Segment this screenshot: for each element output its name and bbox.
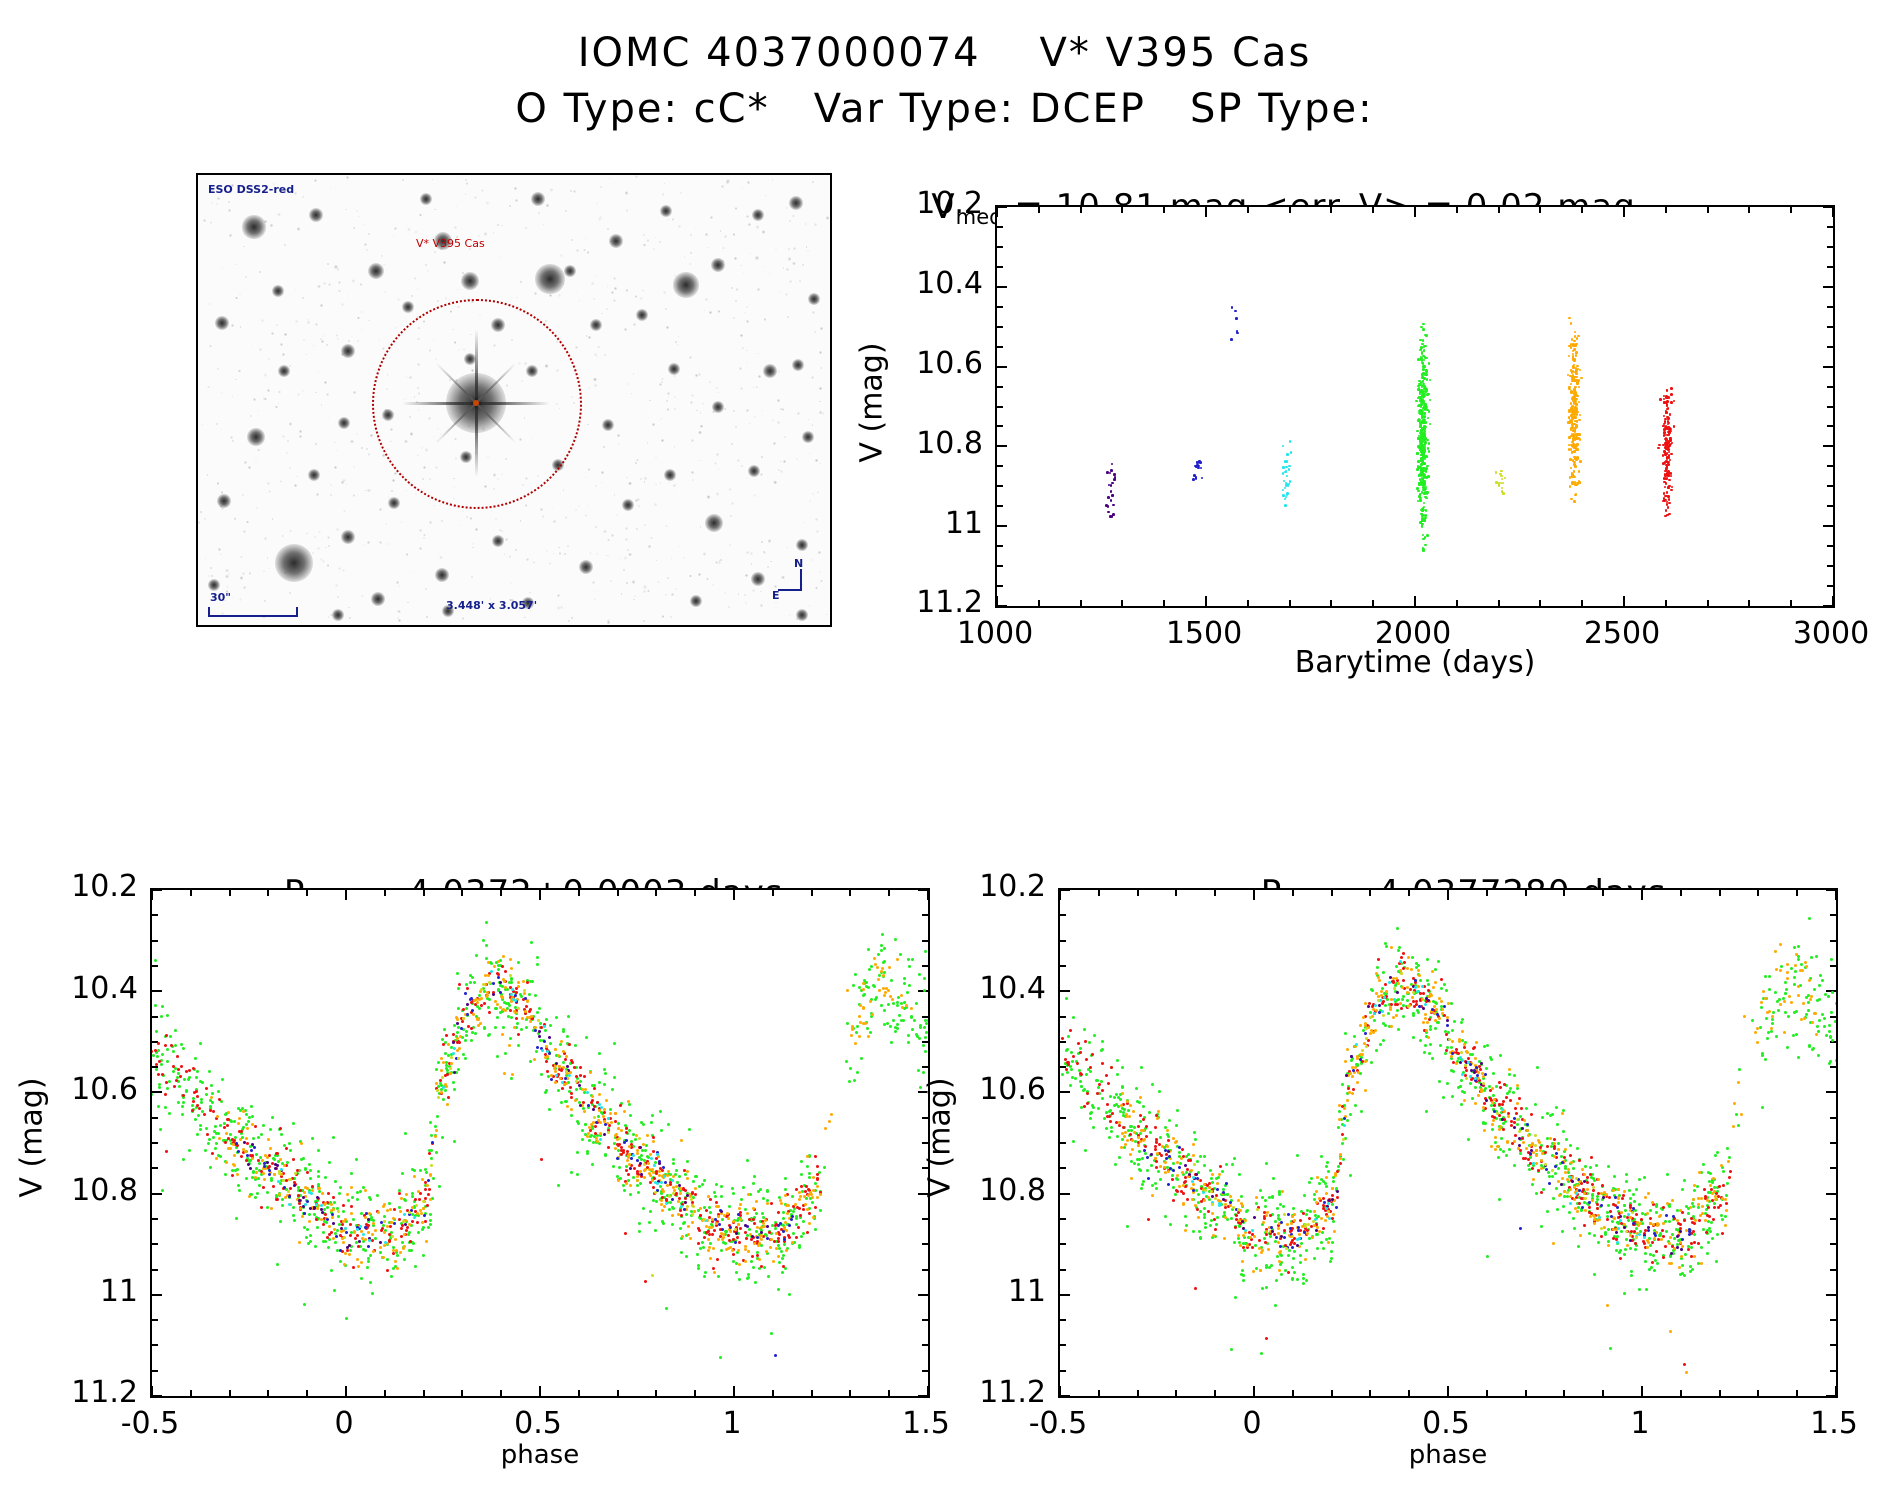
data-point: [911, 1028, 914, 1031]
sky-noise: [758, 353, 760, 355]
data-point: [1815, 955, 1818, 958]
data-point: [343, 1263, 346, 1266]
sky-noise: [643, 585, 646, 588]
data-point: [652, 1140, 655, 1143]
y-tick-minor: [997, 465, 1003, 467]
sky-noise: [499, 257, 501, 259]
sky-noise: [256, 507, 257, 508]
x-tick-minor: [1038, 207, 1040, 213]
sky-noise: [231, 324, 234, 327]
data-point: [550, 1078, 553, 1081]
sky-noise: [796, 458, 798, 460]
data-point: [800, 1235, 803, 1238]
data-point: [1199, 1210, 1202, 1213]
data-point: [1065, 1049, 1068, 1052]
data-point: [594, 1125, 597, 1128]
data-point: [293, 1184, 296, 1187]
data-point: [327, 1192, 330, 1195]
sky-noise: [306, 354, 307, 355]
sky-noise: [302, 196, 304, 198]
data-point: [386, 1225, 389, 1228]
data-point: [411, 1192, 414, 1195]
sky-noise: [603, 446, 604, 447]
x-tick-minor: [1369, 890, 1371, 896]
sky-noise: [210, 567, 212, 569]
data-point: [1580, 377, 1583, 380]
data-point: [1291, 1278, 1294, 1281]
data-point: [169, 1035, 172, 1038]
sky-noise: [337, 411, 338, 412]
sky-noise: [427, 270, 429, 272]
data-point: [548, 1036, 551, 1039]
sky-noise: [661, 381, 664, 384]
y-tick-minor: [997, 565, 1003, 567]
data-point: [270, 1179, 273, 1182]
data-point: [452, 1033, 455, 1036]
data-point: [544, 1091, 547, 1094]
data-point: [692, 1180, 695, 1183]
data-point: [470, 1039, 473, 1042]
data-point: [1108, 1136, 1111, 1139]
sky-noise: [700, 412, 702, 414]
phase-vsx-plot[interactable]: [1058, 888, 1838, 1398]
data-point: [545, 1060, 548, 1063]
data-point: [1577, 437, 1580, 440]
sky-noise: [268, 358, 270, 360]
data-point: [398, 1206, 401, 1209]
sky-noise: [768, 539, 771, 542]
data-point: [256, 1192, 259, 1195]
x-tick-minor: [1163, 207, 1165, 213]
sky-noise: [764, 318, 766, 320]
data-point: [751, 1235, 754, 1238]
data-point: [383, 1215, 386, 1218]
y-tick-minor: [922, 1269, 928, 1271]
y-tick-major: [997, 366, 1007, 368]
sky-noise: [501, 530, 503, 532]
data-point: [1711, 1181, 1714, 1184]
data-point: [368, 1212, 371, 1215]
x-tick-major: [1205, 207, 1207, 217]
data-point: [447, 1096, 450, 1099]
data-point: [346, 1193, 349, 1196]
sky-noise: [338, 567, 341, 570]
y-tick-major: [997, 525, 1007, 527]
sky-noise: [457, 289, 458, 290]
data-point: [636, 1152, 639, 1155]
x-tick-minor: [733, 890, 735, 896]
data-point: [684, 1173, 687, 1176]
sky-noise: [316, 493, 319, 496]
data-point: [1097, 1086, 1100, 1089]
sky-noise: [345, 209, 347, 211]
data-point: [651, 1274, 654, 1277]
data-point: [925, 1031, 928, 1034]
sky-noise: [217, 368, 219, 370]
sky-noise: [690, 401, 693, 404]
data-point: [1669, 413, 1672, 416]
data-point: [394, 1238, 397, 1241]
sky-noise: [769, 343, 770, 344]
data-point: [1771, 1022, 1774, 1025]
sky-noise: [702, 402, 704, 404]
data-point: [279, 1127, 282, 1130]
finder-chart[interactable]: V* V395 Cas ESO DSS2-red 3.448' x 3.057'…: [196, 173, 832, 627]
data-point: [371, 1233, 374, 1236]
data-point: [756, 1254, 759, 1257]
sky-noise: [321, 404, 322, 405]
data-point: [637, 1191, 640, 1194]
x-tick-minor: [1372, 207, 1374, 213]
data-point: [538, 1030, 541, 1033]
sky-noise: [272, 518, 273, 519]
data-point: [1697, 1206, 1700, 1209]
sky-noise: [718, 310, 720, 312]
data-point: [642, 1207, 645, 1210]
data-point: [629, 1184, 632, 1187]
sky-noise: [733, 233, 736, 236]
y-tick-minor: [1830, 1167, 1836, 1169]
sky-noise: [211, 575, 214, 578]
sky-noise: [268, 490, 271, 493]
data-point: [236, 1173, 239, 1176]
y-tick-minor: [152, 914, 158, 916]
data-point: [194, 1118, 197, 1121]
sky-noise: [277, 213, 280, 216]
field-star: [242, 215, 265, 238]
sky-noise: [330, 484, 332, 486]
data-point: [1644, 1260, 1647, 1263]
sky-noise: [611, 534, 614, 537]
data-point: [266, 1161, 269, 1164]
data-point: [613, 1076, 616, 1079]
data-point: [662, 1222, 665, 1225]
data-point: [1580, 1209, 1583, 1212]
sky-noise: [792, 262, 795, 265]
sky-noise: [585, 238, 586, 239]
sky-noise: [280, 343, 283, 346]
sky-noise: [361, 595, 364, 598]
field-star: [402, 301, 415, 314]
data-point: [259, 1156, 262, 1159]
sky-noise: [327, 536, 330, 539]
data-point: [160, 1063, 163, 1066]
data-point: [1501, 478, 1504, 481]
data-point: [1666, 427, 1669, 430]
sky-noise: [327, 564, 330, 567]
data-point: [758, 1258, 761, 1261]
data-point: [543, 1040, 546, 1043]
scale-bar-label: 30": [210, 591, 231, 604]
lightcurve-plot[interactable]: [995, 205, 1835, 608]
sky-noise: [815, 518, 818, 521]
data-point: [802, 1232, 805, 1235]
x-tick-minor: [849, 890, 851, 896]
data-point: [709, 1198, 712, 1201]
data-point: [658, 1162, 661, 1165]
y-tick-minor: [1827, 485, 1833, 487]
sky-noise: [429, 521, 432, 524]
data-point: [713, 1191, 716, 1194]
data-point: [628, 1103, 631, 1106]
sky-noise: [246, 521, 248, 523]
sky-noise: [575, 346, 578, 349]
data-point: [1288, 483, 1291, 486]
x-tick-minor: [384, 890, 386, 896]
data-point: [636, 1175, 639, 1178]
data-point: [509, 1037, 512, 1040]
field-star: [492, 535, 505, 548]
sky-noise: [366, 249, 368, 251]
sky-noise: [437, 300, 439, 302]
data-point: [633, 1167, 636, 1170]
sky-noise: [674, 396, 676, 398]
sky-noise: [406, 490, 407, 491]
data-point: [350, 1186, 353, 1189]
data-point: [924, 950, 927, 953]
data-point: [1667, 506, 1670, 509]
data-point: [456, 1022, 459, 1025]
x-tick-minor: [1214, 1390, 1216, 1396]
data-point: [437, 1096, 440, 1099]
field-star: [564, 265, 577, 278]
data-point: [470, 1027, 473, 1030]
data-point: [357, 1245, 360, 1248]
data-point: [565, 1082, 568, 1085]
data-point: [298, 1199, 301, 1202]
data-point: [845, 1060, 848, 1063]
data-point: [1440, 987, 1443, 990]
data-point: [362, 1233, 365, 1236]
sky-noise: [342, 569, 345, 572]
data-point: [887, 989, 890, 992]
data-point: [903, 977, 906, 980]
x-tick-major: [1414, 207, 1416, 217]
sky-noise: [348, 607, 349, 608]
sky-noise: [746, 409, 749, 412]
aperture-circle: [372, 299, 582, 509]
data-point: [1179, 1162, 1182, 1165]
data-point: [1583, 1201, 1586, 1204]
data-point: [1302, 1273, 1305, 1276]
sky-noise: [812, 181, 814, 183]
page-title: IOMC 4037000074 V* V395 Cas: [0, 30, 1889, 76]
data-point: [227, 1111, 230, 1114]
data-point: [416, 1212, 419, 1215]
data-point: [1765, 1017, 1768, 1020]
data-point: [711, 1233, 714, 1236]
data-point: [1670, 453, 1673, 456]
data-point: [573, 1066, 576, 1069]
sky-noise: [721, 185, 724, 188]
data-point: [567, 1015, 570, 1018]
data-point: [268, 1169, 271, 1172]
sky-noise: [729, 488, 731, 490]
data-point: [205, 1087, 208, 1090]
sky-noise: [689, 575, 691, 577]
sky-noise: [706, 578, 709, 581]
data-point: [1578, 481, 1581, 484]
data-point: [566, 1065, 569, 1068]
data-point: [645, 1144, 648, 1147]
y-tick-minor: [1060, 1370, 1066, 1372]
data-point: [627, 1173, 630, 1176]
data-point: [1623, 1253, 1626, 1256]
sky-noise: [735, 207, 738, 210]
sky-noise: [282, 435, 285, 438]
sky-noise: [603, 530, 606, 533]
sky-noise: [654, 409, 655, 410]
data-point: [896, 958, 899, 961]
sky-noise: [653, 248, 655, 250]
data-point: [269, 1147, 272, 1150]
y-tick-minor: [1830, 940, 1836, 942]
data-point: [1810, 956, 1813, 959]
data-point: [1114, 476, 1117, 479]
data-point: [760, 1238, 763, 1241]
x-tick-minor: [1581, 600, 1583, 606]
data-point: [168, 1112, 171, 1115]
data-point: [441, 1076, 444, 1079]
data-point: [850, 1034, 853, 1037]
sky-noise: [665, 594, 667, 596]
field-star: [636, 309, 649, 322]
data-point: [487, 974, 490, 977]
data-point: [533, 1058, 536, 1061]
data-point: [292, 1122, 295, 1125]
data-point: [1121, 1066, 1124, 1069]
data-point: [564, 1058, 567, 1061]
sky-noise: [820, 572, 822, 574]
x-tick-minor: [1408, 890, 1410, 896]
data-point: [731, 1249, 734, 1252]
data-point: [862, 988, 865, 991]
sky-noise: [592, 581, 595, 584]
sky-noise: [295, 289, 297, 291]
data-point: [1528, 1168, 1531, 1171]
data-point: [1290, 451, 1293, 454]
sky-noise: [493, 232, 495, 234]
sky-noise: [643, 244, 645, 246]
data-point: [435, 1129, 438, 1132]
data-point: [814, 1206, 817, 1209]
data-point: [219, 1124, 222, 1127]
data-point: [1204, 1226, 1207, 1229]
data-point: [268, 1173, 271, 1176]
sky-noise: [204, 518, 206, 520]
sky-noise: [367, 489, 370, 492]
data-point: [480, 988, 483, 991]
data-point: [466, 1013, 469, 1016]
y-tick-major: [152, 1395, 162, 1397]
data-point: [903, 982, 906, 985]
data-point: [340, 1227, 343, 1230]
data-point: [266, 1191, 269, 1194]
data-point: [630, 1157, 633, 1160]
sky-noise: [594, 384, 597, 387]
data-point: [860, 1057, 863, 1060]
sky-noise: [710, 216, 713, 219]
data-point: [482, 939, 485, 942]
data-point: [328, 1161, 331, 1164]
phase-omc-plot[interactable]: [150, 888, 930, 1398]
data-point: [703, 1218, 706, 1221]
data-point: [478, 1007, 481, 1010]
data-point: [156, 1055, 159, 1058]
sky-noise: [789, 220, 791, 222]
sky-noise: [504, 553, 506, 555]
data-point: [1572, 370, 1575, 373]
data-point: [1606, 1215, 1609, 1218]
sky-noise: [336, 450, 337, 451]
data-point: [401, 1241, 404, 1244]
sky-noise: [756, 225, 759, 228]
sky-noise: [744, 312, 745, 313]
data-point: [1222, 1188, 1225, 1191]
data-point: [1264, 1205, 1267, 1208]
data-point: [1425, 470, 1428, 473]
sky-noise: [807, 250, 809, 252]
data-point: [858, 1015, 861, 1018]
data-point: [663, 1205, 666, 1208]
data-point: [757, 1244, 760, 1247]
sky-noise: [802, 264, 804, 266]
x-tick-minor: [1665, 207, 1667, 213]
data-point: [200, 1101, 203, 1104]
field-star: [673, 272, 698, 297]
x-tick-major: [1059, 890, 1061, 900]
sky-noise: [360, 283, 362, 285]
data-point: [744, 1245, 747, 1248]
data-point: [1576, 381, 1579, 384]
data-point: [848, 1080, 851, 1083]
data-point: [620, 1146, 623, 1149]
data-point: [922, 1044, 925, 1047]
data-point: [497, 964, 500, 967]
sky-noise: [553, 553, 554, 554]
sky-noise: [671, 558, 673, 560]
sky-noise: [634, 595, 636, 597]
sky-noise: [297, 393, 300, 396]
data-point: [279, 1158, 282, 1161]
data-point: [697, 1267, 700, 1270]
data-point: [417, 1231, 420, 1234]
sky-noise: [678, 546, 679, 547]
sky-noise: [378, 340, 380, 342]
sky-noise: [209, 345, 211, 347]
data-point: [416, 1221, 419, 1224]
sky-noise: [614, 494, 615, 495]
data-point: [1513, 1164, 1516, 1167]
data-point: [429, 1213, 432, 1216]
sky-noise: [560, 493, 561, 494]
data-point: [679, 1227, 682, 1230]
x-tick-major: [1253, 890, 1255, 900]
data-point: [638, 1137, 641, 1140]
data-point: [465, 1030, 468, 1033]
y-tick-minor: [1060, 940, 1066, 942]
data-point: [639, 1162, 642, 1165]
data-point: [483, 1026, 486, 1029]
data-point: [273, 1158, 276, 1161]
data-point: [501, 965, 504, 968]
data-point: [598, 1081, 601, 1084]
data-point: [1109, 472, 1112, 475]
data-point: [505, 1002, 508, 1005]
sky-noise: [315, 323, 318, 326]
sky-noise: [383, 264, 384, 265]
sky-noise: [623, 569, 625, 571]
